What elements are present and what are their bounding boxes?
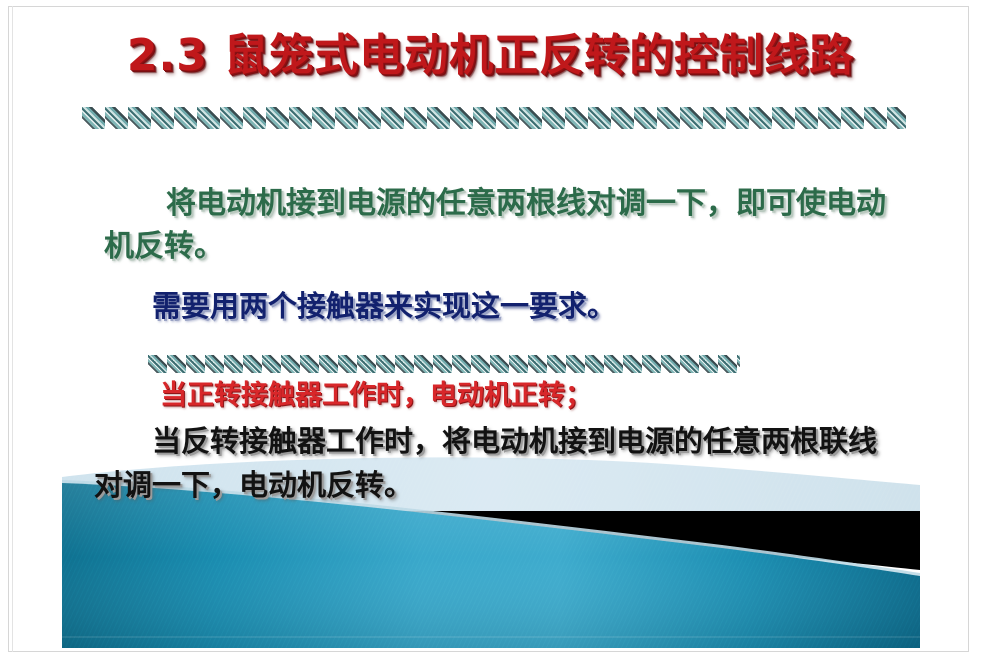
- line-navy: 需要用两个接触器来实现这一要求。: [152, 288, 912, 326]
- slide-canvas: 2.3 鼠笼式电动机正反转的控制线路 将电动机接到电源的任意两根线对调一下，即可…: [0, 0, 981, 661]
- slide-border-accent: [12, 6, 13, 652]
- diamond-divider-top: [82, 107, 906, 129]
- page-title: 2.3 鼠笼式电动机正反转的控制线路: [0, 33, 981, 79]
- paragraph-black: 当反转接触器工作时，将电动机接到电源的任意两根联线对调一下，电动机反转。: [94, 420, 884, 507]
- line-red: 当正转接触器工作时，电动机正转；: [160, 378, 920, 413]
- diamond-divider-middle: [148, 355, 740, 373]
- paragraph-green: 将电动机接到电源的任意两根线对调一下，即可使电动机反转。: [104, 183, 894, 268]
